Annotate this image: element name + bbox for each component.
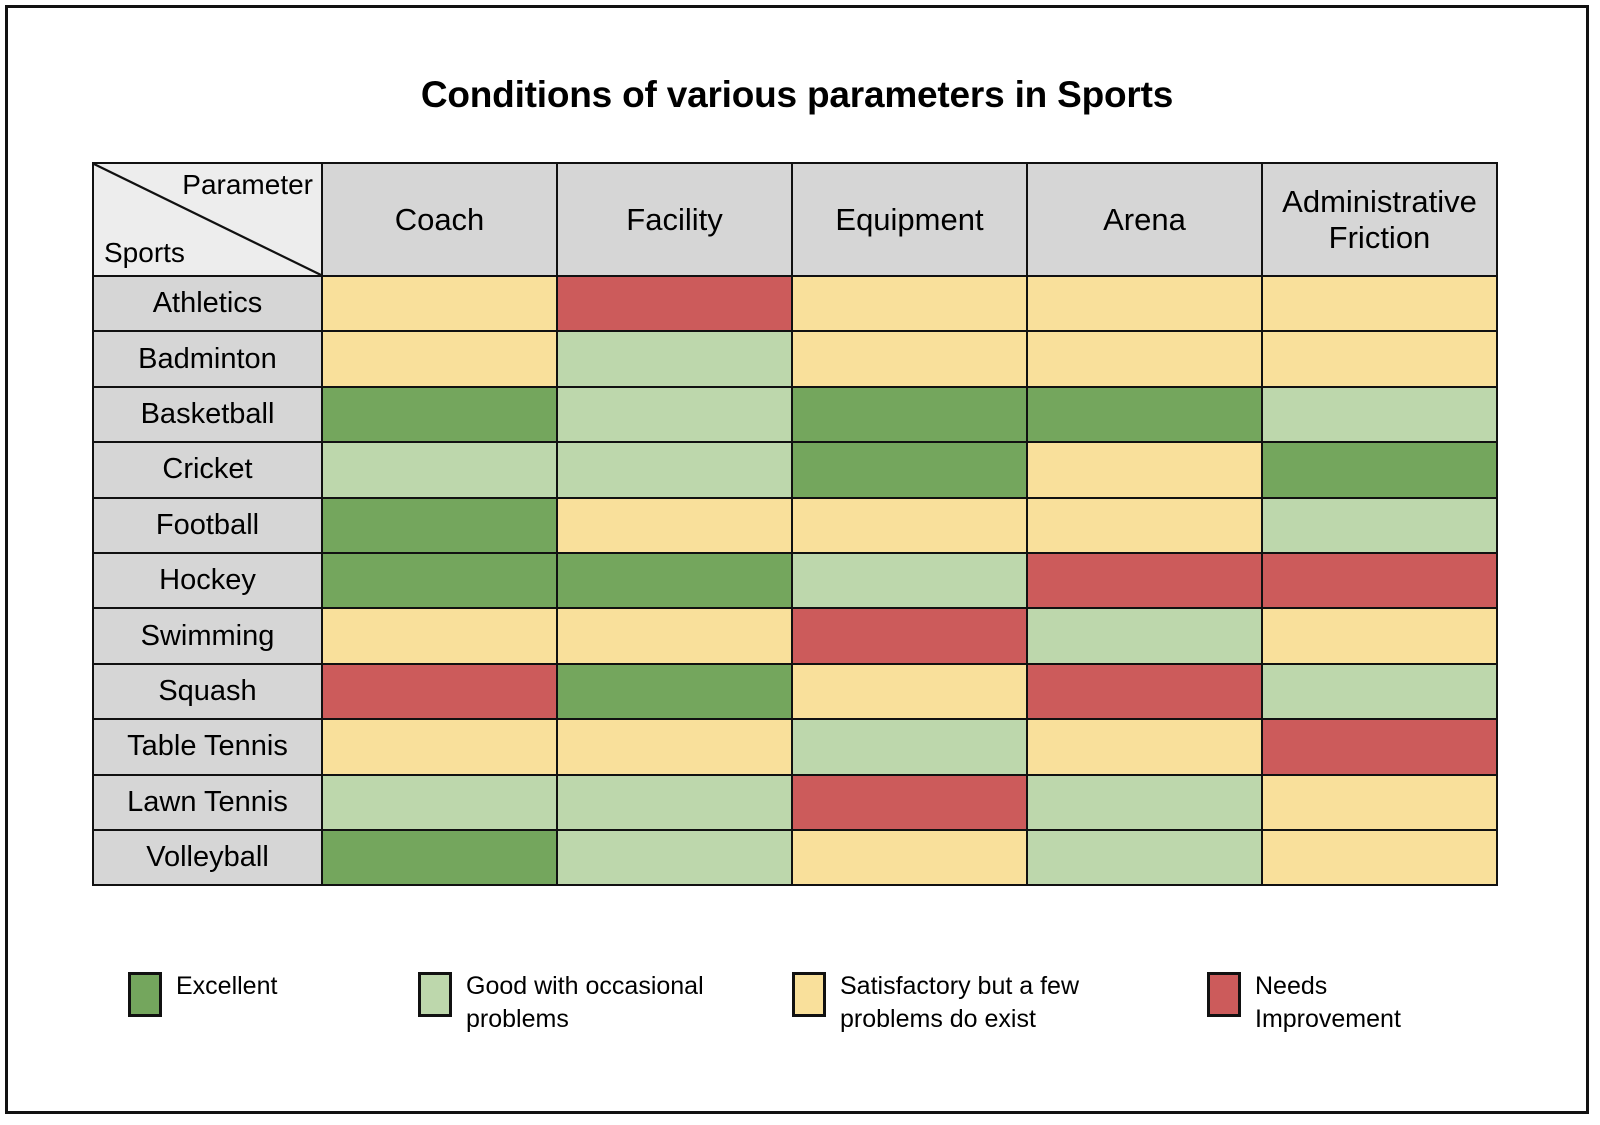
table-row: Table Tennis xyxy=(93,719,1497,774)
legend-item-excellent: Excellent xyxy=(128,970,277,1017)
heatmap-cell xyxy=(1027,830,1262,885)
row-header-swimming: Swimming xyxy=(93,608,322,663)
heatmap-cell xyxy=(792,719,1027,774)
heatmap-cell xyxy=(792,553,1027,608)
sports-parameter-matrix: Parameter Sports CoachFacilityEquipmentA… xyxy=(92,162,1498,884)
heatmap-cell xyxy=(557,664,792,719)
heatmap-cell xyxy=(1262,664,1497,719)
heatmap-cell xyxy=(1027,719,1262,774)
row-header-athletics: Athletics xyxy=(93,276,322,331)
heatmap-cell xyxy=(1027,608,1262,663)
heatmap-cell xyxy=(792,830,1027,885)
heatmap-cell xyxy=(322,608,557,663)
table-row: Football xyxy=(93,498,1497,553)
matrix-body: AthleticsBadmintonBasketballCricketFootb… xyxy=(93,276,1497,885)
column-header-arena: Arena xyxy=(1027,163,1262,276)
table-row: Badminton xyxy=(93,331,1497,386)
heatmap-cell xyxy=(1262,276,1497,331)
heatmap-cell xyxy=(557,276,792,331)
matrix-header: Parameter Sports CoachFacilityEquipmentA… xyxy=(93,163,1497,276)
heatmap-cell xyxy=(792,276,1027,331)
heatmap-cell xyxy=(322,276,557,331)
row-header-squash: Squash xyxy=(93,664,322,719)
heatmap-cell xyxy=(322,664,557,719)
table-row: Swimming xyxy=(93,608,1497,663)
column-header-coach: Coach xyxy=(322,163,557,276)
heatmap-cell xyxy=(322,719,557,774)
heatmap-cell xyxy=(557,331,792,386)
matrix-header-row: Parameter Sports CoachFacilityEquipmentA… xyxy=(93,163,1497,276)
heatmap-cell xyxy=(557,387,792,442)
heatmap-cell xyxy=(1262,608,1497,663)
heatmap-cell xyxy=(322,553,557,608)
heatmap-cell xyxy=(557,608,792,663)
heatmap-cell xyxy=(557,775,792,830)
heatmap-cell xyxy=(322,442,557,497)
matrix-table: Parameter Sports CoachFacilityEquipmentA… xyxy=(92,162,1498,886)
table-row: Volleyball xyxy=(93,830,1497,885)
chart-frame: Conditions of various parameters in Spor… xyxy=(5,5,1589,1114)
legend-label-excellent: Excellent xyxy=(176,970,277,1003)
heatmap-cell xyxy=(557,498,792,553)
legend-item-satisfactory: Satisfactory but a few problems do exist xyxy=(792,970,1079,1036)
heatmap-cell xyxy=(1262,498,1497,553)
row-axis-label: Sports xyxy=(104,238,185,267)
heatmap-cell xyxy=(1027,331,1262,386)
row-header-table-tennis: Table Tennis xyxy=(93,719,322,774)
heatmap-cell xyxy=(792,387,1027,442)
heatmap-cell xyxy=(322,775,557,830)
row-header-cricket: Cricket xyxy=(93,442,322,497)
heatmap-cell xyxy=(1262,331,1497,386)
legend-swatch-needs xyxy=(1207,972,1241,1017)
heatmap-cell xyxy=(1027,276,1262,331)
row-header-badminton: Badminton xyxy=(93,331,322,386)
heatmap-cell xyxy=(557,553,792,608)
row-header-volleyball: Volleyball xyxy=(93,830,322,885)
table-row: Squash xyxy=(93,664,1497,719)
page-title: Conditions of various parameters in Spor… xyxy=(8,74,1586,116)
legend-label-satisfactory: Satisfactory but a few problems do exist xyxy=(840,970,1079,1036)
column-header-administrative-friction: Administrative Friction xyxy=(1262,163,1497,276)
legend-swatch-excellent xyxy=(128,972,162,1017)
heatmap-cell xyxy=(1027,498,1262,553)
corner-axis-header: Parameter Sports xyxy=(93,163,322,276)
legend-item-good: Good with occasional problems xyxy=(418,970,704,1036)
heatmap-cell xyxy=(322,498,557,553)
table-row: Cricket xyxy=(93,442,1497,497)
heatmap-cell xyxy=(792,331,1027,386)
heatmap-cell xyxy=(1027,775,1262,830)
row-header-football: Football xyxy=(93,498,322,553)
table-row: Basketball xyxy=(93,387,1497,442)
heatmap-cell xyxy=(1262,830,1497,885)
table-row: Lawn Tennis xyxy=(93,775,1497,830)
heatmap-cell xyxy=(1262,387,1497,442)
table-row: Hockey xyxy=(93,553,1497,608)
legend-swatch-satisfactory xyxy=(792,972,826,1017)
heatmap-cell xyxy=(792,608,1027,663)
row-header-basketball: Basketball xyxy=(93,387,322,442)
heatmap-cell xyxy=(792,498,1027,553)
heatmap-cell xyxy=(1262,442,1497,497)
heatmap-cell xyxy=(322,331,557,386)
heatmap-cell xyxy=(792,775,1027,830)
legend-item-needs: Needs Improvement xyxy=(1207,970,1401,1036)
row-header-hockey: Hockey xyxy=(93,553,322,608)
heatmap-cell xyxy=(1262,719,1497,774)
heatmap-cell xyxy=(322,830,557,885)
legend-swatch-good xyxy=(418,972,452,1017)
legend-label-needs: Needs Improvement xyxy=(1255,970,1401,1036)
heatmap-cell xyxy=(1262,775,1497,830)
heatmap-cell xyxy=(322,387,557,442)
heatmap-cell xyxy=(792,664,1027,719)
legend-label-good: Good with occasional problems xyxy=(466,970,704,1036)
heatmap-cell xyxy=(557,442,792,497)
legend: ExcellentGood with occasional problemsSa… xyxy=(92,956,1498,1056)
column-axis-label: Parameter xyxy=(182,170,313,199)
column-header-equipment: Equipment xyxy=(792,163,1027,276)
row-header-lawn-tennis: Lawn Tennis xyxy=(93,775,322,830)
heatmap-cell xyxy=(557,830,792,885)
heatmap-cell xyxy=(1027,387,1262,442)
heatmap-cell xyxy=(1262,553,1497,608)
heatmap-cell xyxy=(1027,442,1262,497)
column-header-facility: Facility xyxy=(557,163,792,276)
heatmap-cell xyxy=(792,442,1027,497)
heatmap-cell xyxy=(557,719,792,774)
heatmap-cell xyxy=(1027,553,1262,608)
table-row: Athletics xyxy=(93,276,1497,331)
heatmap-cell xyxy=(1027,664,1262,719)
